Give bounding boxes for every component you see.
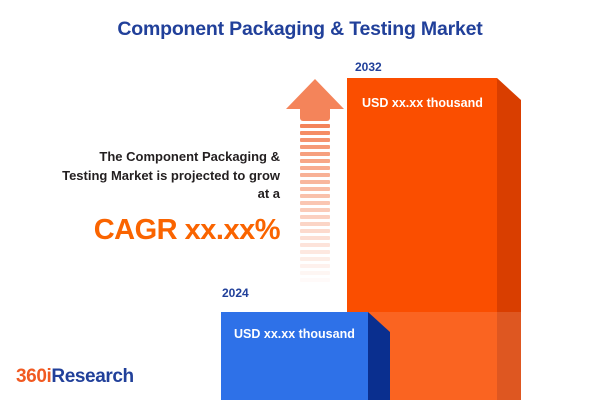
bar-2032-value-label: USD xx.xx thousand xyxy=(362,96,483,110)
brand-logo[interactable]: 360iResearch xyxy=(16,366,134,388)
arrow-stripe xyxy=(300,250,330,254)
bar-2024-year-label: 2024 xyxy=(222,286,249,300)
arrow-stripe xyxy=(300,257,330,261)
arrow-stripe xyxy=(300,215,330,219)
arrow-stripe xyxy=(300,278,330,282)
arrow-stripe xyxy=(300,138,330,142)
arrow-stripe xyxy=(300,159,330,163)
market-growth-infographic: Component Packaging & Testing Market The… xyxy=(0,0,600,400)
upward-growth-arrow-icon xyxy=(286,79,344,294)
arrow-stripe xyxy=(300,152,330,156)
arrow-stripe xyxy=(300,222,330,226)
arrow-stripe xyxy=(300,124,330,128)
logo-360i-text: 360i xyxy=(16,366,51,387)
statement-line-1: The Component Packaging & xyxy=(18,148,280,167)
arrow-stripe xyxy=(300,229,330,233)
arrow-stripe xyxy=(300,264,330,268)
arrow-stripe xyxy=(300,131,330,135)
arrow-stripe xyxy=(300,187,330,191)
bar-2024-front-face xyxy=(221,312,368,400)
page-title: Component Packaging & Testing Market xyxy=(0,18,600,41)
statement-line-3: at a xyxy=(18,185,280,204)
statement-line-2: Testing Market is projected to grow xyxy=(18,167,280,186)
cagr-value: CAGR xx.xx% xyxy=(18,213,280,247)
arrow-stripe xyxy=(300,173,330,177)
bar-2024-value-label: USD xx.xx thousand xyxy=(234,327,355,341)
arrow-stripe-stack xyxy=(300,124,330,294)
arrow-neck xyxy=(300,108,330,121)
arrow-stripe xyxy=(300,194,330,198)
arrow-stripe xyxy=(300,271,330,275)
cagr-statement-block: The Component Packaging & Testing Market… xyxy=(18,148,280,247)
logo-research-text: Research xyxy=(51,366,133,387)
arrow-stripe xyxy=(300,180,330,184)
arrow-stripe xyxy=(300,166,330,170)
arrow-stripe xyxy=(300,145,330,149)
arrow-stripe xyxy=(300,285,330,289)
arrow-head-icon xyxy=(286,79,344,109)
arrow-stripe xyxy=(300,201,330,205)
arrow-stripe xyxy=(300,236,330,240)
bar-2032-year-label: 2032 xyxy=(355,60,382,74)
arrow-stripe xyxy=(300,243,330,247)
arrow-stripe xyxy=(300,208,330,212)
